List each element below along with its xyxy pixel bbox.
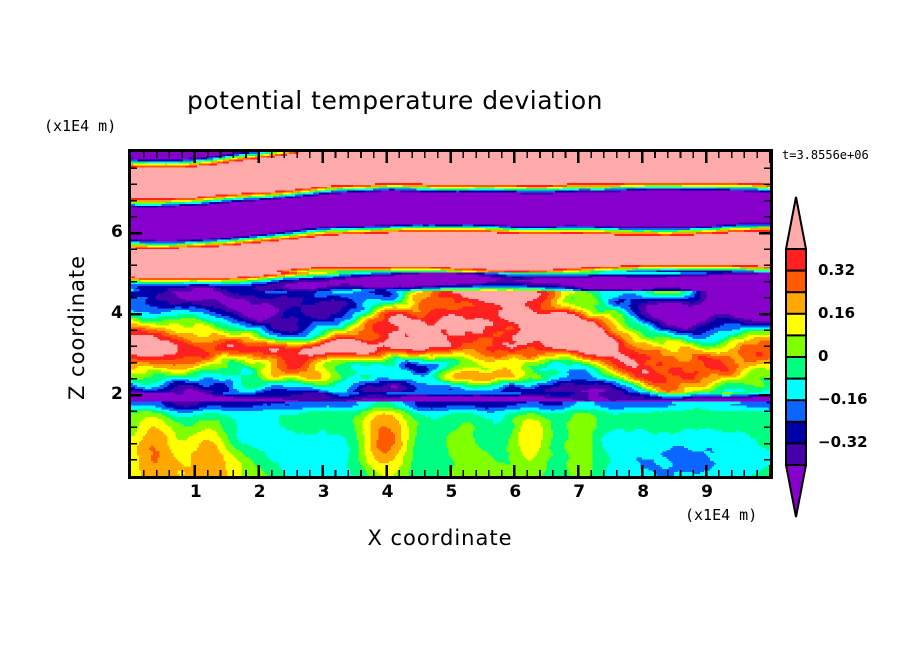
x-tick-label: 7	[573, 482, 585, 502]
y-tick-label: 6	[111, 222, 123, 242]
colorbar-under-arrow	[786, 465, 806, 517]
figure-canvas: potential temperature deviation (x1E4 m)…	[0, 0, 904, 654]
contour-field	[131, 152, 770, 476]
colorbar-tick-label: −0.32	[818, 433, 868, 451]
colorbar[interactable]	[786, 197, 806, 517]
colorbar-over-arrow	[786, 197, 806, 249]
colorbar-band[interactable]	[786, 357, 806, 379]
colorbar-band[interactable]	[786, 443, 806, 465]
colorbar-band[interactable]	[786, 292, 806, 314]
x-tick-label: 5	[446, 482, 458, 502]
y-tick-label: 2	[111, 384, 123, 404]
colorbar-tick-label: −0.16	[818, 390, 868, 408]
colorbar-band[interactable]	[786, 271, 806, 293]
colorbar-band[interactable]	[786, 422, 806, 444]
x-tick-label: 6	[509, 482, 521, 502]
colorbar-tick-label: 0	[818, 347, 828, 365]
colorbar-band[interactable]	[786, 314, 806, 336]
colorbar-band[interactable]	[786, 379, 806, 401]
x-tick-label: 8	[637, 482, 649, 502]
colorbar-tick-label: 0.16	[818, 304, 855, 322]
colorbar-band[interactable]	[786, 400, 806, 422]
contour-plot	[0, 0, 904, 654]
colorbar-tick-label: 0.32	[818, 261, 855, 279]
x-tick-label: 4	[382, 482, 394, 502]
x-tick-label: 3	[318, 482, 330, 502]
x-tick-label: 9	[701, 482, 713, 502]
y-tick-label: 4	[111, 303, 123, 323]
colorbar-band[interactable]	[786, 249, 806, 271]
colorbar-band[interactable]	[786, 335, 806, 357]
x-tick-label: 1	[190, 482, 202, 502]
x-tick-label: 2	[254, 482, 266, 502]
